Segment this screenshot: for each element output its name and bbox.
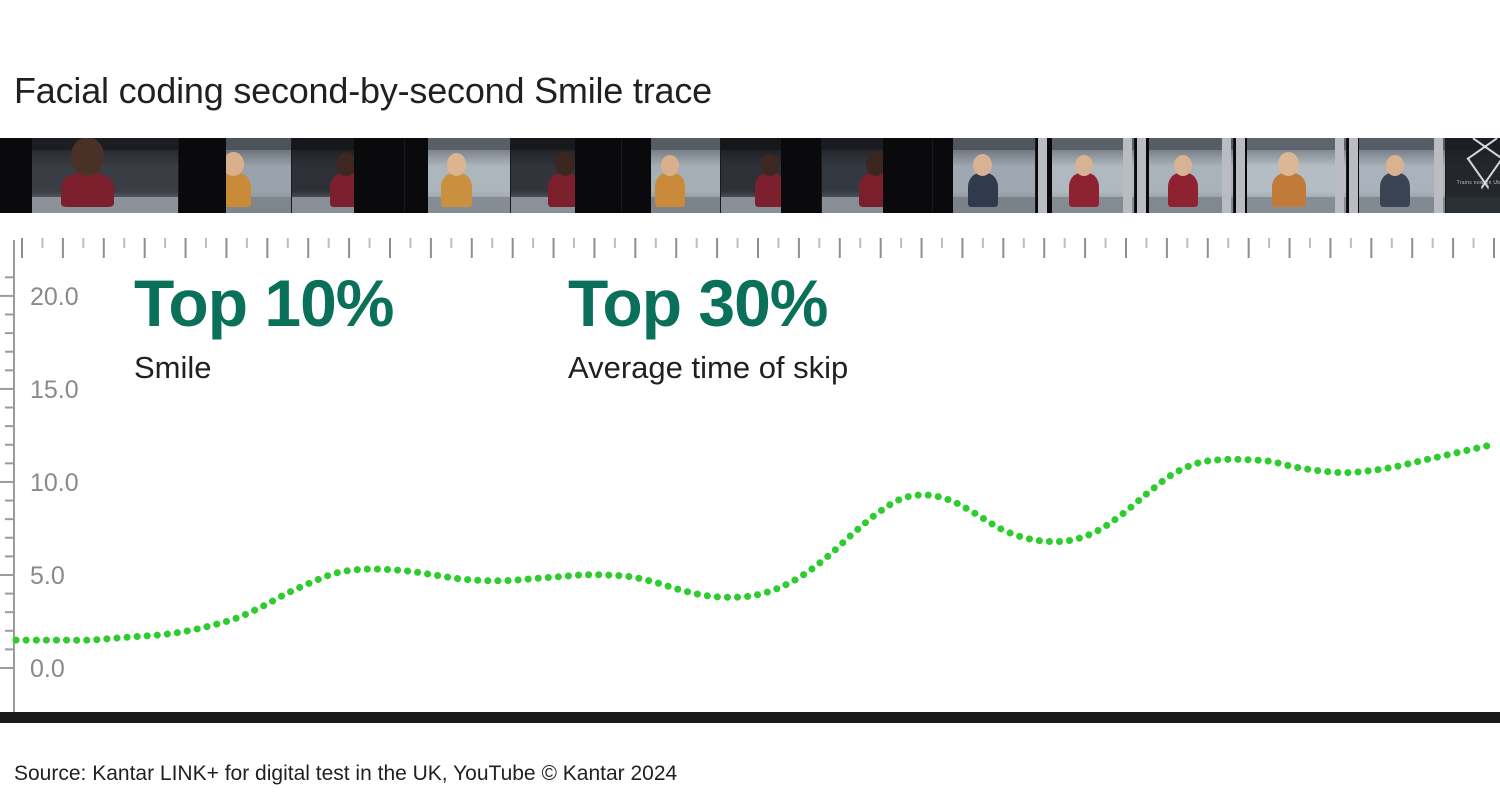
filmstrip-frame xyxy=(0,138,179,213)
frame-subject-body xyxy=(655,173,684,208)
filmstrip-frame xyxy=(511,138,622,213)
chart-baseline-bar xyxy=(0,712,1500,723)
filmstrip-frame xyxy=(822,138,933,213)
y-axis-tick-label: 20.0 xyxy=(30,283,79,311)
x-axis-tick-ruler xyxy=(22,238,1494,258)
smile-trace-line xyxy=(16,445,1492,640)
frame-platform xyxy=(1446,197,1500,214)
frame-subject-body xyxy=(441,173,473,208)
frame-train-door-frame xyxy=(1038,138,1047,213)
facial-coding-video-filmstrip: Trains now on Uber xyxy=(0,138,1500,213)
frame-subject-body xyxy=(968,173,999,208)
frame-subject-head xyxy=(223,152,244,176)
frame-subject-body xyxy=(61,173,114,208)
y-axis-tick-label: 5.0 xyxy=(30,562,65,590)
frame-subject-head xyxy=(1174,155,1192,176)
frame-subject-head xyxy=(555,152,575,176)
frame-subject-body xyxy=(1380,173,1409,208)
frame-train-door-frame xyxy=(1137,138,1146,213)
y-axis-tick-label: 10.0 xyxy=(30,469,79,497)
frame-foreground-shadow xyxy=(933,138,953,213)
frame-subject-head xyxy=(447,153,467,175)
filmstrip-frame xyxy=(933,138,1036,213)
frame-foreground-shadow xyxy=(622,138,651,213)
smile-trace-chart: 0.05.010.015.020.0 xyxy=(0,228,1500,728)
frame-subject-head xyxy=(661,155,679,176)
filmstrip-frame xyxy=(1234,138,1347,213)
frame-ceiling xyxy=(1347,138,1445,150)
y-axis-tick-label: 15.0 xyxy=(30,376,79,404)
filmstrip-frame xyxy=(721,138,822,213)
frame-foreground-shadow xyxy=(781,138,821,213)
frame-subject-body xyxy=(1272,173,1306,208)
filmstrip-frame xyxy=(179,138,292,213)
smile-trace-dotted-path xyxy=(16,445,1492,640)
frame-ceiling xyxy=(1234,138,1346,150)
frame-train-door-frame xyxy=(1123,138,1132,213)
page-title: Facial coding second-by-second Smile tra… xyxy=(14,70,712,112)
filmstrip-frame xyxy=(292,138,405,213)
frame-subject-head xyxy=(761,154,780,175)
filmstrip-frame xyxy=(1036,138,1135,213)
frame-foreground-shadow xyxy=(179,138,226,213)
frame-foreground-shadow xyxy=(0,138,32,213)
frame-ceiling xyxy=(1135,138,1233,150)
filmstrip-frame xyxy=(1135,138,1234,213)
filmstrip-frame: Trains now on Uber xyxy=(1446,138,1500,213)
y-axis: 0.05.010.015.020.0 xyxy=(0,240,79,715)
filmstrip-frame xyxy=(622,138,721,213)
filmstrip-frame xyxy=(1347,138,1446,213)
frame-subject-body xyxy=(1168,173,1197,208)
frame-train-door-frame xyxy=(1335,138,1344,213)
frame-foreground-shadow xyxy=(575,138,621,213)
end-card-text: Trains now on Uber xyxy=(1453,180,1500,186)
frame-foreground-shadow xyxy=(405,138,428,213)
frame-subject-head xyxy=(1075,155,1093,176)
frame-subject-head xyxy=(1386,155,1404,176)
frame-foreground-shadow xyxy=(354,138,404,213)
frame-subject-head xyxy=(71,138,104,176)
frame-train-door-frame xyxy=(1434,138,1443,213)
frame-subject-body xyxy=(1069,173,1098,208)
frame-train-door-frame xyxy=(1236,138,1245,213)
frame-subject-head xyxy=(973,154,992,176)
source-note: Source: Kantar LINK+ for digital test in… xyxy=(14,762,677,786)
frame-train-door-frame xyxy=(1349,138,1358,213)
frame-subject-head xyxy=(1278,152,1299,176)
frame-foreground-shadow xyxy=(883,138,933,213)
y-axis-tick-label: 0.0 xyxy=(30,655,65,683)
filmstrip-frame xyxy=(405,138,511,213)
frame-train-door-frame xyxy=(1222,138,1231,213)
chart-canvas: 0.05.010.015.020.0 xyxy=(0,228,1500,728)
